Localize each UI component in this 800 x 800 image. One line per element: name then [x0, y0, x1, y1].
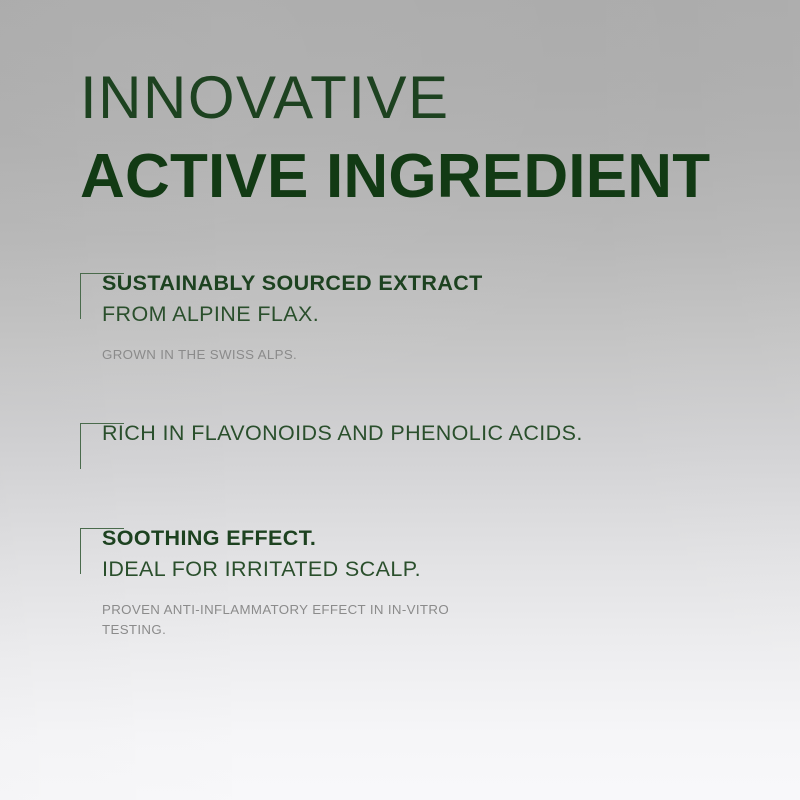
feature-title: RICH IN FLAVONOIDS AND PHENOLIC ACIDS. [102, 418, 583, 449]
feature-block-sustainably-sourced: SUSTAINABLY SOURCED EXTRACT FROM ALPINE … [80, 268, 483, 365]
page-title: INNOVATIVE ACTIVE INGREDIENT [80, 68, 710, 208]
feature-block-soothing-effect: SOOTHING EFFECT. IDEAL FOR IRRITATED SCA… [80, 523, 452, 640]
feature-title: SUSTAINABLY SOURCED EXTRACT [102, 268, 483, 299]
feature-subtitle: IDEAL FOR IRRITATED SCALP. [102, 554, 452, 585]
feature-note: GROWN IN THE SWISS ALPS. [102, 345, 452, 365]
headline-line-2: ACTIVE INGREDIENT [80, 146, 710, 208]
feature-title: SOOTHING EFFECT. [102, 523, 452, 554]
feature-block-flavonoids: RICH IN FLAVONOIDS AND PHENOLIC ACIDS. [80, 418, 583, 449]
feature-subtitle: FROM ALPINE FLAX. [102, 299, 483, 330]
feature-note: PROVEN ANTI-INFLAMMATORY EFFECT IN IN-VI… [102, 600, 452, 640]
headline-line-1: INNOVATIVE [80, 68, 710, 128]
promo-panel: INNOVATIVE ACTIVE INGREDIENT SUSTAINABLY… [0, 0, 800, 800]
